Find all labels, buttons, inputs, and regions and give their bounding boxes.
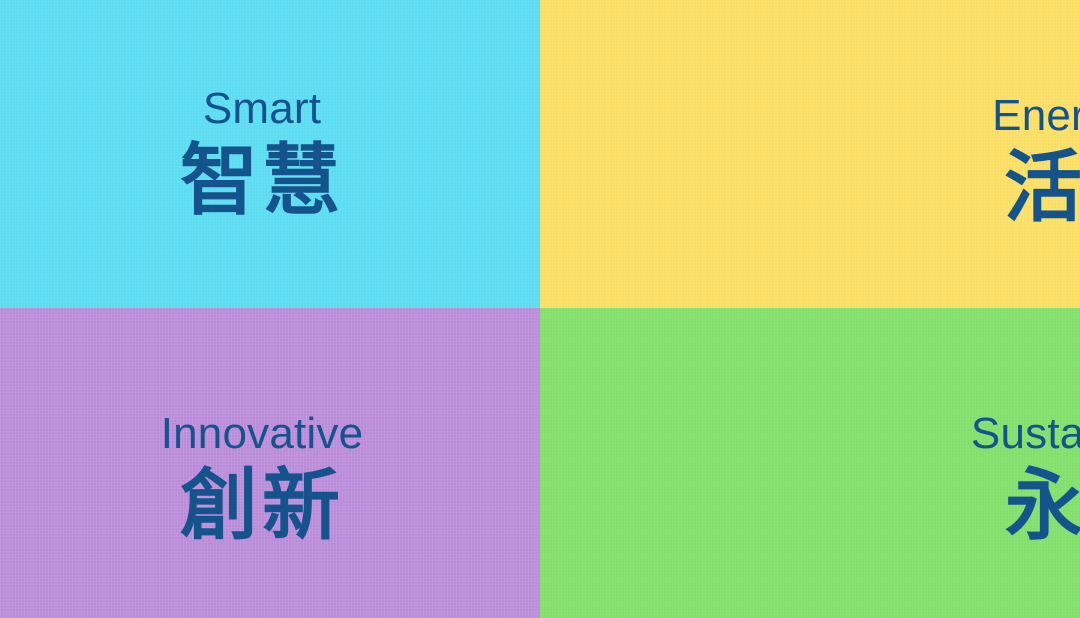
panel-smart-cjk-label: 智慧 [180, 138, 344, 225]
panel-sustainable[interactable]: Sustainable 永續 [540, 308, 1080, 618]
panel-innovative[interactable]: Innovative 創新 [0, 308, 540, 618]
panel-energetic-latin-label: Energetic [992, 93, 1080, 139]
panel-smart-latin-label: Smart [203, 86, 321, 132]
panel-smart[interactable]: Smart 智慧 [0, 0, 540, 308]
panel-energetic-cjk-label: 活力 [1004, 145, 1080, 232]
panel-innovative-latin-label: Innovative [161, 411, 364, 457]
panel-innovative-cjk-label: 創新 [180, 463, 344, 550]
panel-innovative-text: Innovative 創新 [0, 411, 532, 551]
poster-canvas: Smart 智慧 Energetic 活力 Innovative 創新 Sust… [0, 0, 1080, 618]
panel-smart-text: Smart 智慧 [0, 86, 532, 226]
panel-energetic-text: Energetic 活力 [816, 93, 1080, 233]
panel-sustainable-cjk-label: 永續 [1005, 463, 1080, 550]
panel-sustainable-latin-label: Sustainable [971, 411, 1080, 457]
panel-sustainable-text: Sustainable 永續 [817, 411, 1080, 551]
panel-energetic[interactable]: Energetic 活力 [540, 0, 1080, 308]
